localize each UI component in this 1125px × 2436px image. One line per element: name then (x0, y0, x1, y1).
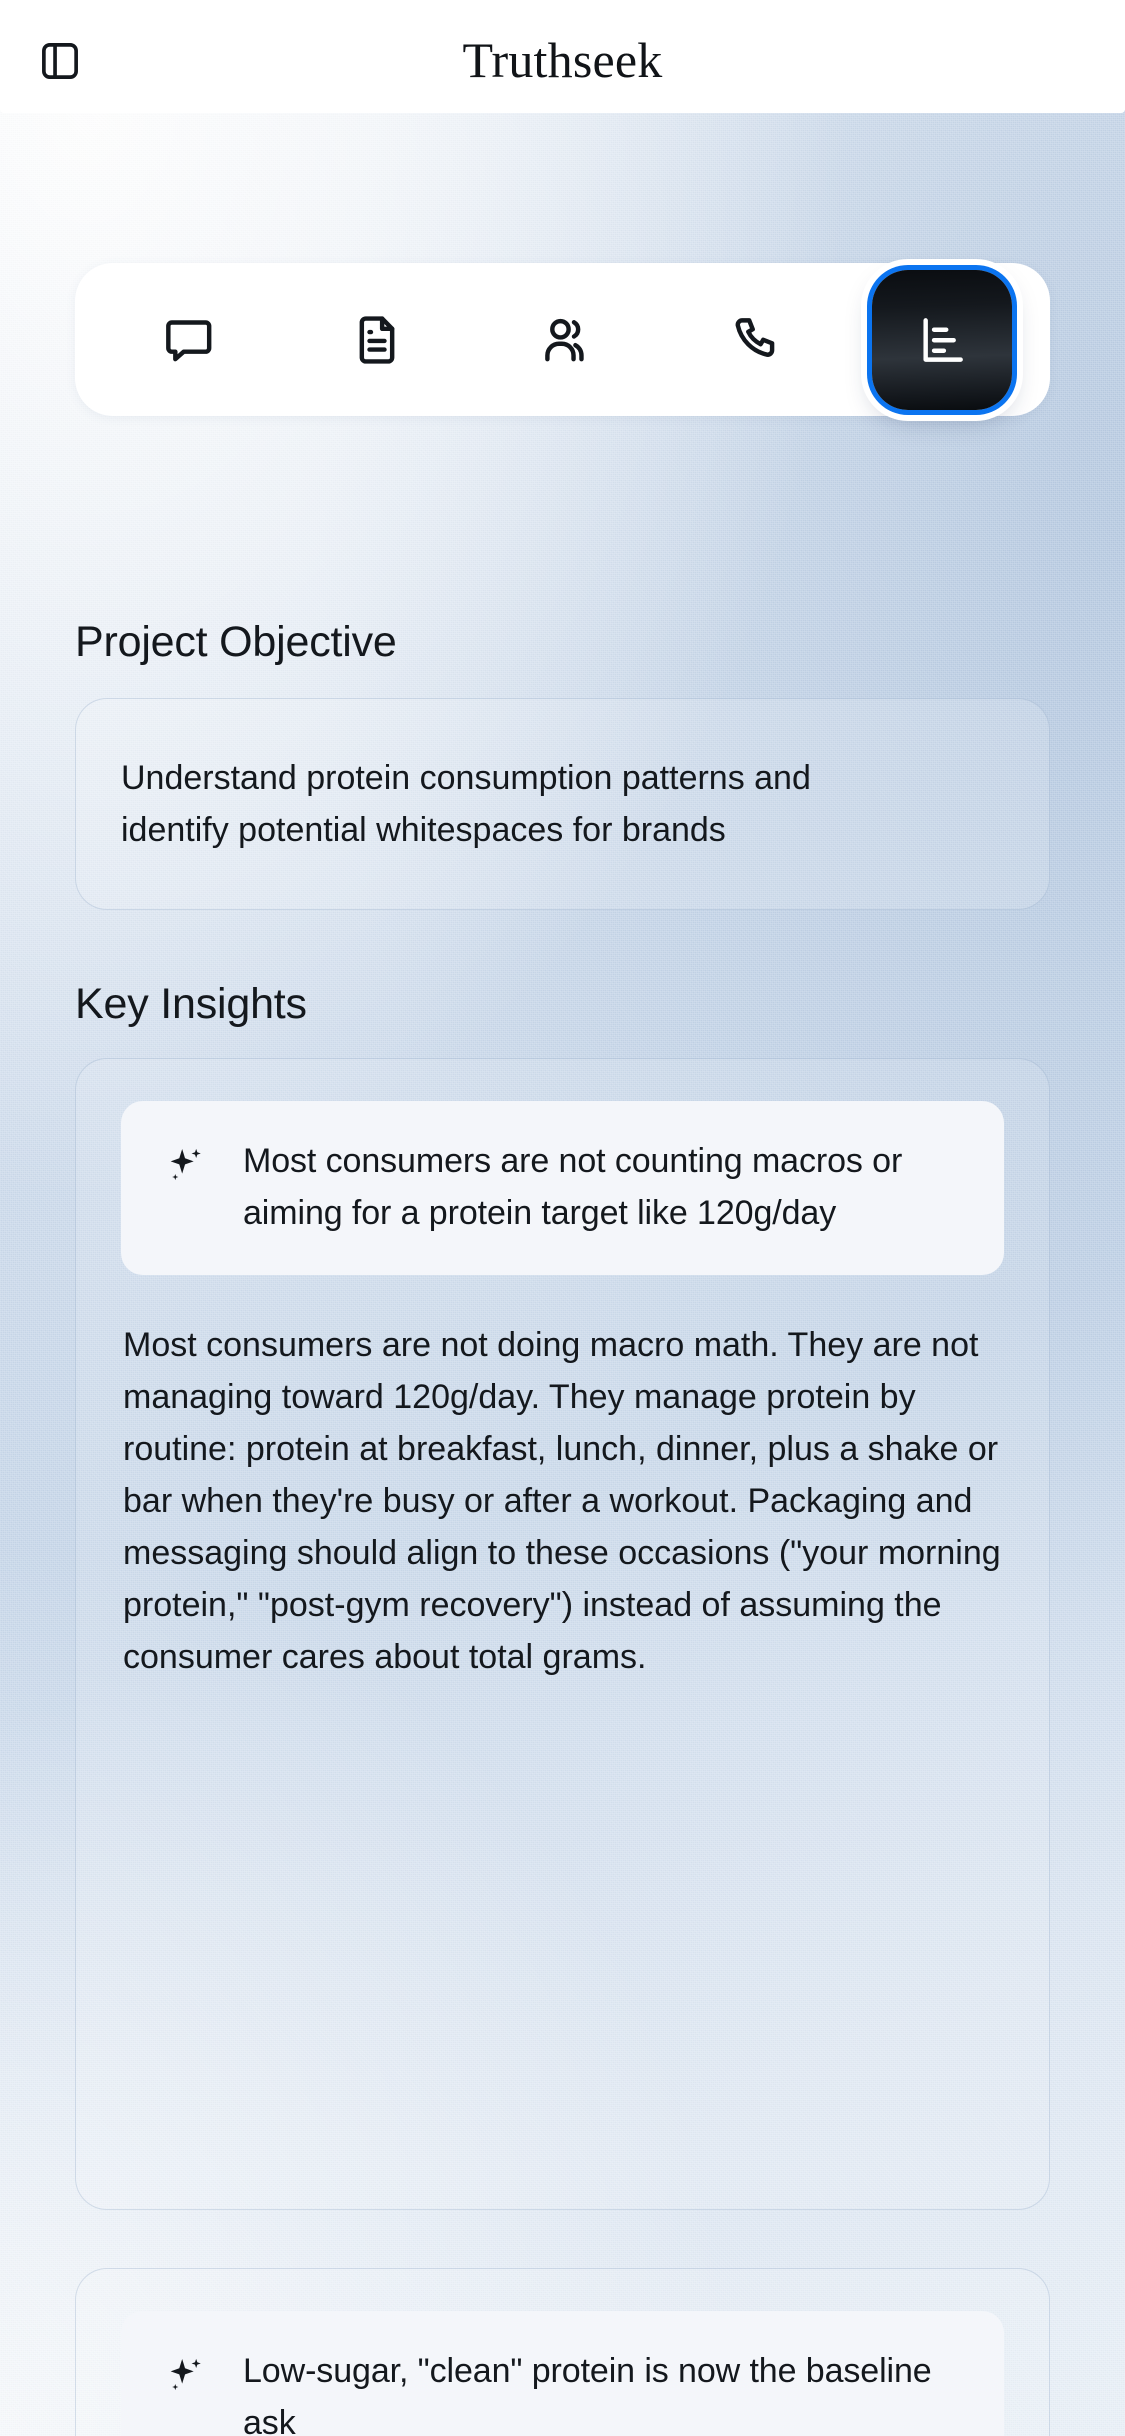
tab-calls[interactable] (682, 285, 830, 395)
insight-card[interactable]: Most consumers are not counting macros o… (75, 1058, 1050, 2210)
primary-tab-bar (75, 263, 1050, 416)
tab-insights[interactable] (872, 270, 1012, 410)
objective-card: Understand protein consumption patterns … (75, 698, 1050, 910)
app-title: Truthseek (0, 0, 1125, 113)
app-screen: Project Objective Understand protein con… (0, 0, 1125, 2436)
page-title-objective: Project Objective (75, 618, 397, 667)
insight-title: Most consumers are not counting macros o… (243, 1135, 962, 1239)
insight-title: Low-sugar, "clean" protein is now the ba… (243, 2345, 962, 2436)
bar-chart-icon (914, 312, 970, 368)
tab-people[interactable] (493, 285, 641, 395)
users-icon (539, 312, 595, 368)
sparkle-icon (163, 2351, 209, 2402)
top-app-bar: Truthseek (0, 0, 1125, 113)
scroll-content: Project Objective Understand protein con… (0, 110, 1125, 2436)
page-title-insights: Key Insights (75, 980, 307, 1029)
insight-card[interactable]: Low-sugar, "clean" protein is now the ba… (75, 2268, 1050, 2436)
tab-documents[interactable] (303, 285, 451, 395)
phone-icon (728, 312, 784, 368)
insight-body: Most consumers are not doing macro math.… (121, 1319, 1004, 1683)
chat-bubble-icon (159, 312, 215, 368)
insight-title-box: Low-sugar, "clean" protein is now the ba… (121, 2311, 1004, 2436)
objective-text: Understand protein consumption patterns … (121, 752, 921, 856)
sparkle-icon (163, 1141, 209, 1192)
tab-chat[interactable] (113, 285, 261, 395)
insight-title-box: Most consumers are not counting macros o… (121, 1101, 1004, 1275)
document-icon (349, 312, 405, 368)
